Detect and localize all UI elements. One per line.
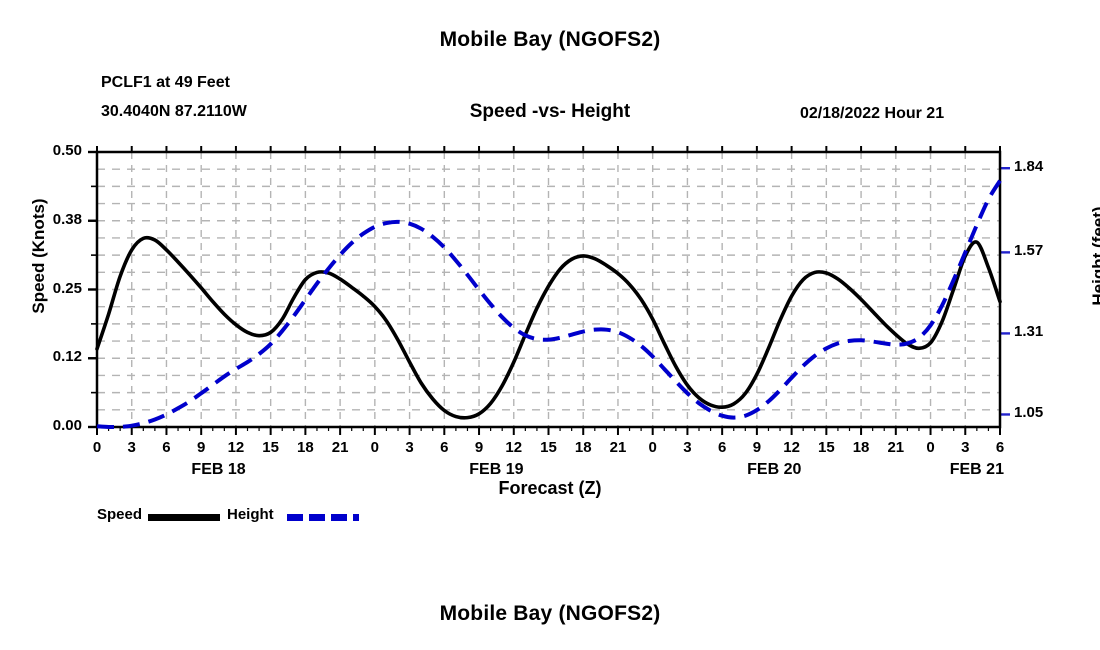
y-axis-left-tick-label: 0.00: [24, 417, 82, 434]
legend-label: Speed: [97, 506, 142, 523]
chart-plot-area: [0, 0, 1100, 500]
legend-swatch-solid: [148, 514, 220, 521]
y-axis-left-tick-label: 0.25: [24, 280, 82, 297]
chart-page: Mobile Bay (NGOFS2) PCLF1 at 49 Feet 30.…: [0, 0, 1100, 650]
y-axis-right-tick-label: 1.05: [1014, 404, 1074, 421]
page-title-bottom: Mobile Bay (NGOFS2): [0, 602, 1100, 626]
y-axis-right-tick-label: 1.57: [1014, 242, 1074, 259]
x-axis-tick-label: 6: [980, 439, 1020, 456]
x-axis-day-label: FEB 21: [917, 461, 1037, 479]
y-axis-left-tick-label: 0.12: [24, 348, 82, 365]
y-axis-right-tick-label: 1.31: [1014, 323, 1074, 340]
legend-label: Height: [227, 506, 274, 523]
y-axis-right-tick-label: 1.84: [1014, 158, 1074, 175]
x-axis-day-label: FEB 20: [714, 461, 834, 479]
y-axis-left-tick-label: 0.50: [24, 142, 82, 159]
y-axis-left-tick-label: 0.38: [24, 211, 82, 228]
x-axis-day-label: FEB 19: [436, 461, 556, 479]
x-axis-day-label: FEB 18: [159, 461, 279, 479]
legend-swatch-dashed: [287, 514, 359, 521]
